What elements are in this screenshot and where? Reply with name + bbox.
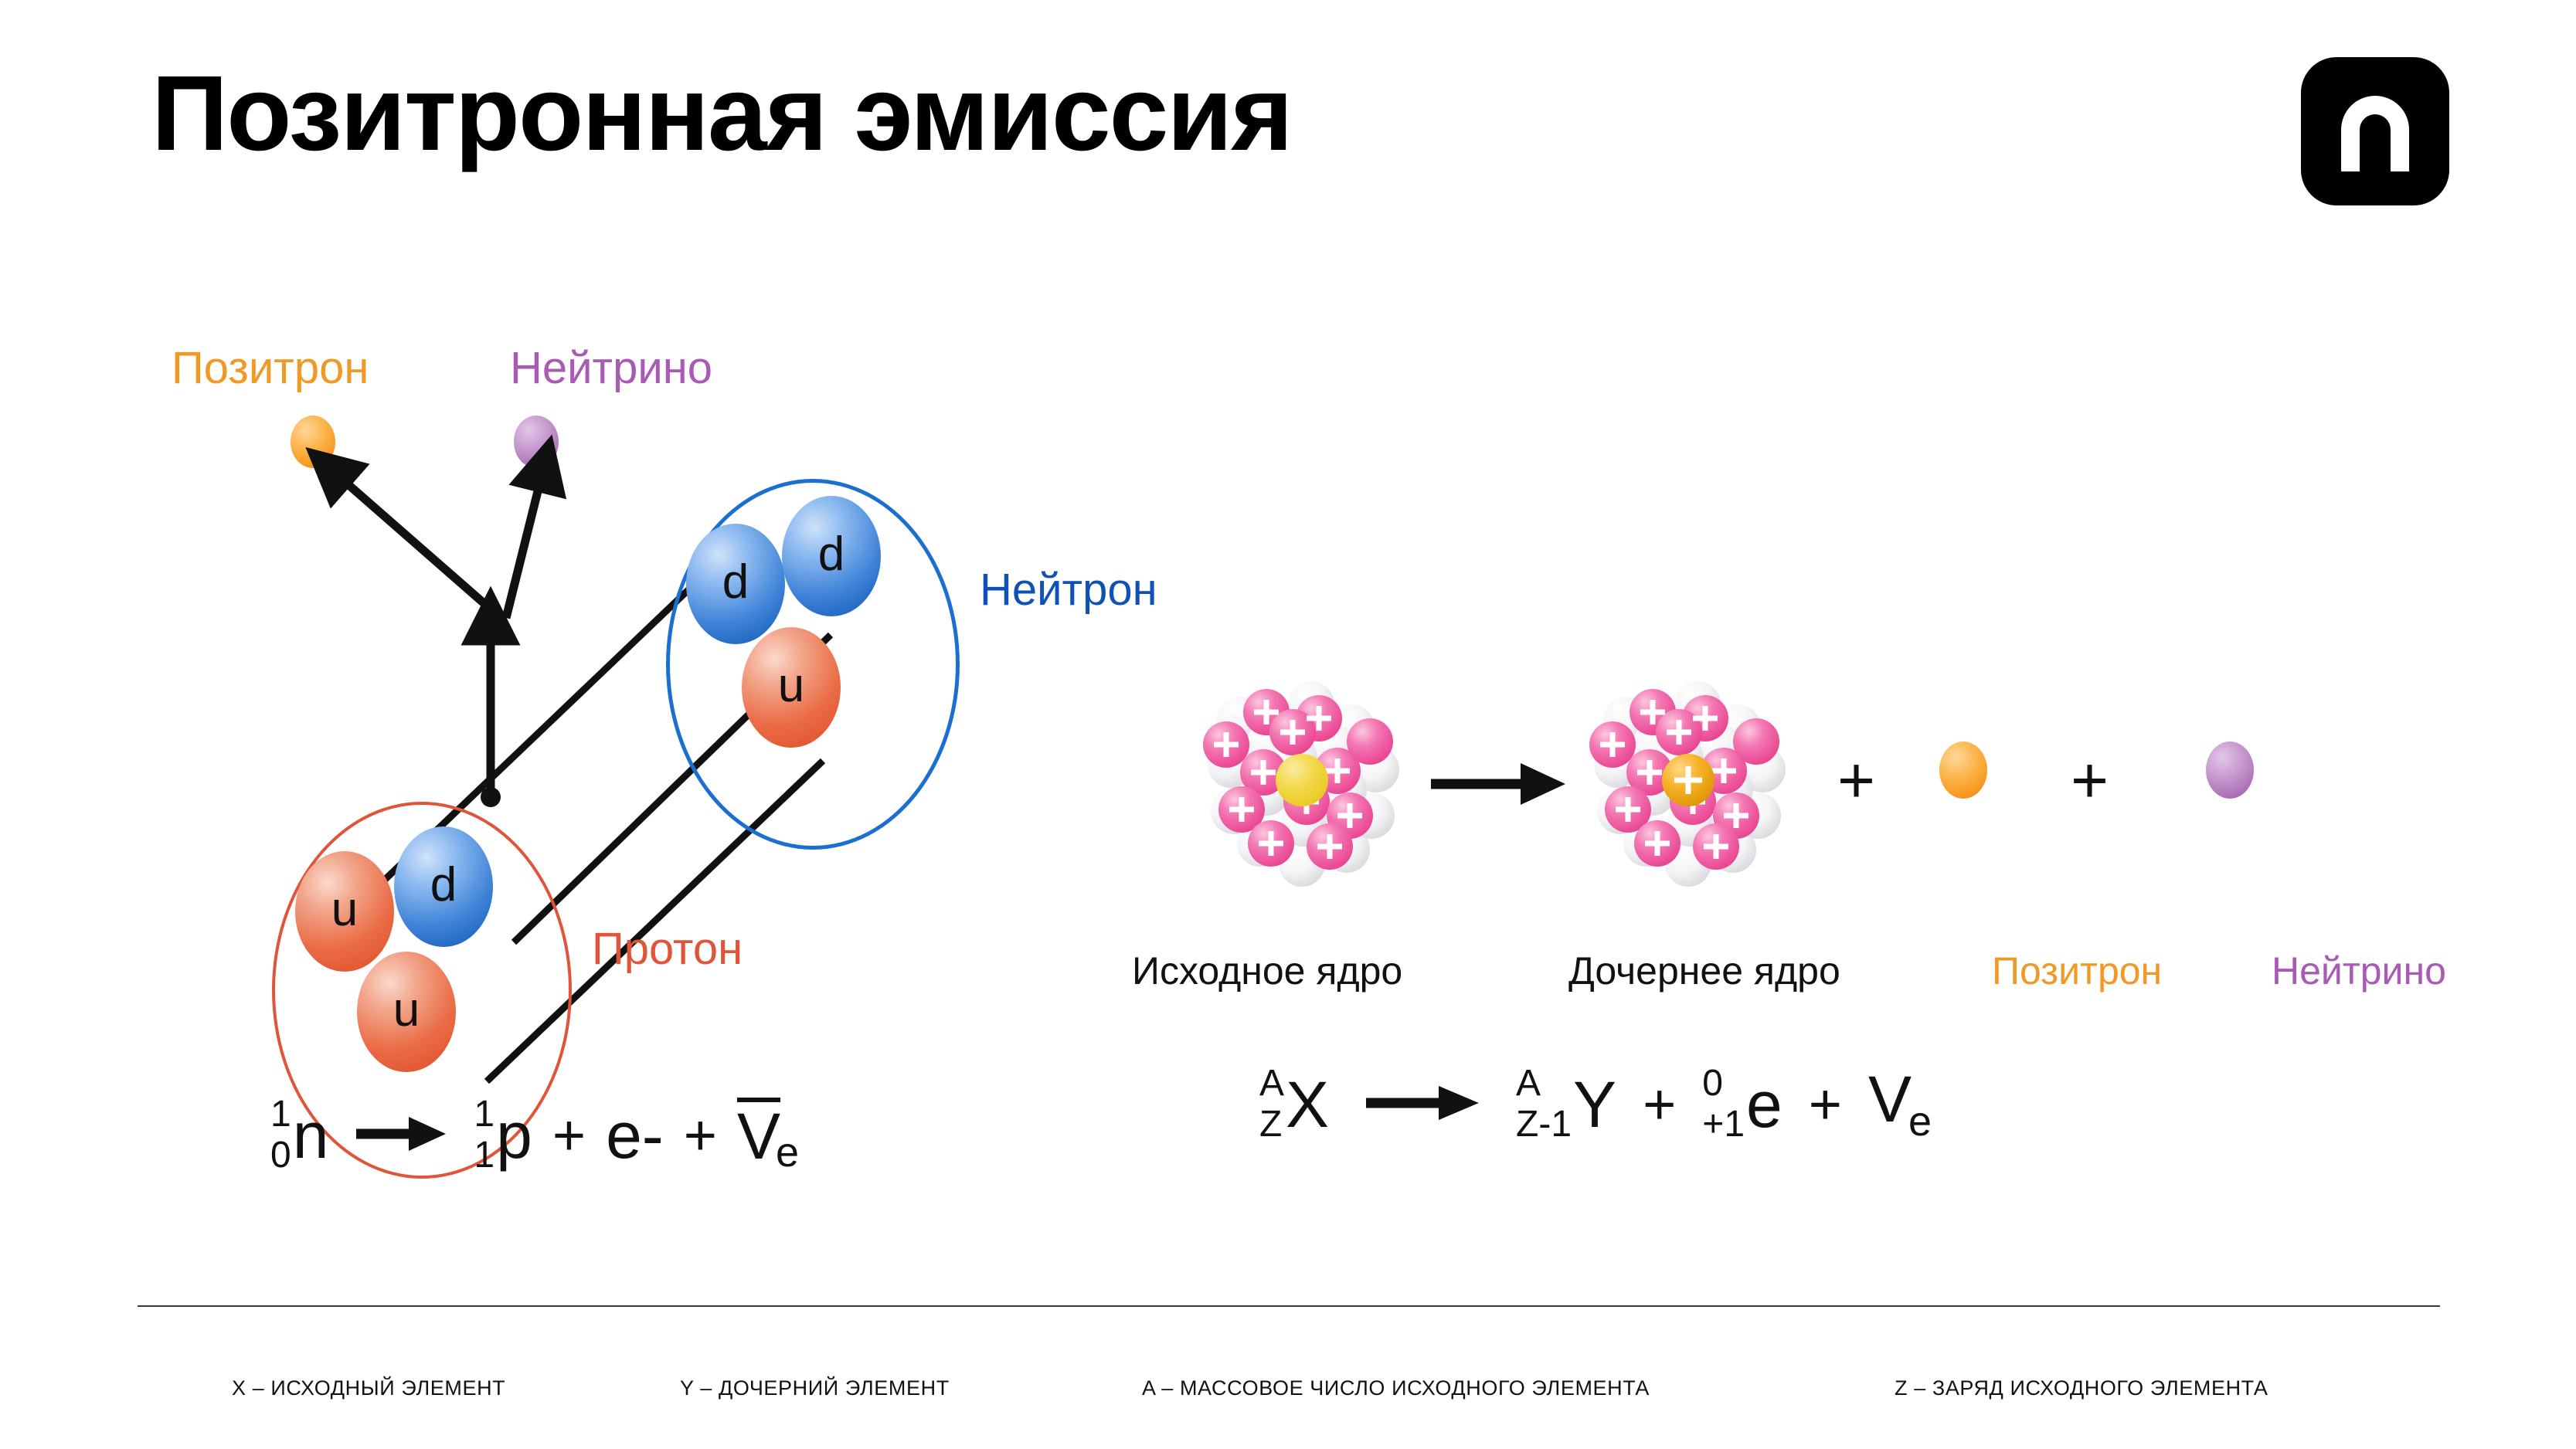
emitted-positron-particle — [1939, 741, 1987, 799]
eq-term-neutron: 1 0 n — [270, 1096, 328, 1175]
slide-canvas: Позитронная эмиссия Позитрон Нейтрино — [0, 0, 2576, 1449]
quark-letter: d — [430, 857, 457, 912]
neutron-indices: 1 0 — [270, 1096, 291, 1175]
parent-indices: A Z — [1259, 1065, 1284, 1144]
footer-divider — [138, 1305, 2440, 1307]
reaction-plus-1: + — [1837, 748, 1875, 813]
proton-quark-u1: u — [295, 851, 394, 972]
neutron-quark-u: u — [742, 627, 841, 748]
proton-quark-d: d — [394, 826, 493, 947]
brand-logo-icon — [2301, 57, 2449, 205]
nuc-term-positron: 0 +1 e — [1702, 1065, 1782, 1144]
positron-caption: Позитрон — [1992, 952, 2162, 990]
eq-plus-2: + — [684, 1107, 717, 1164]
antineutrino-symbol: V — [737, 1098, 780, 1169]
positron-indices: 0 +1 — [1702, 1065, 1745, 1144]
equation-arrow-icon — [355, 1111, 447, 1161]
nucleus-reaction-diagram: + + — [1113, 649, 2503, 973]
quark-letter: u — [778, 658, 804, 713]
quark-letter: u — [331, 882, 358, 937]
nuclear-decay-equation: A Z X A Z-1 Y + 0 +1 e + — [1259, 1050, 1932, 1159]
footer-note-y: Y – ДОЧЕРНИЙ ЭЛЕМЕНТ — [680, 1376, 950, 1400]
proton-quark-u2: u — [357, 952, 456, 1072]
parent-nucleus-icon — [1186, 664, 1418, 896]
parent-symbol: X — [1286, 1072, 1329, 1137]
neutron-quark-d2: d — [782, 496, 881, 616]
parent-nucleus-caption: Исходное ядро — [1132, 952, 1402, 990]
quark-letter: u — [393, 982, 420, 1037]
quark-letter: d — [722, 555, 749, 609]
proton-symbol: p — [496, 1103, 532, 1168]
emitted-neutrino-particle — [2206, 741, 2254, 799]
proton-indices: 1 1 — [474, 1096, 494, 1175]
daughter-symbol: Y — [1573, 1072, 1616, 1137]
nuc-plus-2: + — [1809, 1076, 1842, 1133]
neutron-quark-d1: d — [686, 524, 785, 644]
nuc-plus-1: + — [1643, 1076, 1676, 1133]
decay-vertex-arrows — [0, 0, 1313, 1267]
neutrino-subscript: e — [1908, 1101, 1932, 1142]
daughter-indices: A Z-1 — [1516, 1065, 1572, 1144]
quark-decay-equation: 1 0 n 1 1 p + e- + V e — [270, 1081, 799, 1189]
reaction-plus-2: + — [2071, 748, 2109, 813]
footer-note-z: Z – ЗАРЯД ИСХОДНОГО ЭЛЕМЕНТА — [1895, 1376, 2268, 1400]
eq-term-electron: e- — [606, 1103, 664, 1168]
reaction-arrow-icon — [1429, 757, 1568, 811]
eq-plus-1: + — [552, 1107, 586, 1164]
daughter-nucleus-icon — [1572, 664, 1804, 896]
neutrino-caption: Нейтрино — [2272, 952, 2446, 990]
nuc-term-daughter: A Z-1 Y — [1516, 1065, 1616, 1144]
nuc-term-neutrino: V e — [1868, 1067, 1932, 1142]
footer-note-a: A – МАССОВОЕ ЧИСЛО ИСХОДНОГО ЭЛЕМЕНТА — [1142, 1376, 1650, 1400]
eq-term-antineutrino: V e — [737, 1098, 799, 1173]
quark-transformation-diagram: Позитрон Нейтрино — [0, 0, 1313, 1267]
neutron-symbol: n — [293, 1103, 329, 1168]
neutron-label: Нейтрон — [980, 568, 1157, 613]
footer-note-x: X – ИСХОДНЫЙ ЭЛЕМЕНТ — [232, 1376, 505, 1400]
neutrino-symbol: V — [1868, 1067, 1912, 1132]
daughter-nucleus-caption: Дочернее ядро — [1568, 952, 1840, 990]
eq-term-proton: 1 1 p — [474, 1096, 532, 1175]
nuclear-equation-arrow-icon — [1364, 1080, 1480, 1130]
nuc-term-parent: A Z X — [1259, 1065, 1329, 1144]
quark-letter: d — [818, 527, 845, 582]
antineutrino-subscript: e — [776, 1132, 799, 1173]
proton-label: Протон — [592, 927, 743, 972]
positron-symbol: e — [1746, 1072, 1782, 1137]
